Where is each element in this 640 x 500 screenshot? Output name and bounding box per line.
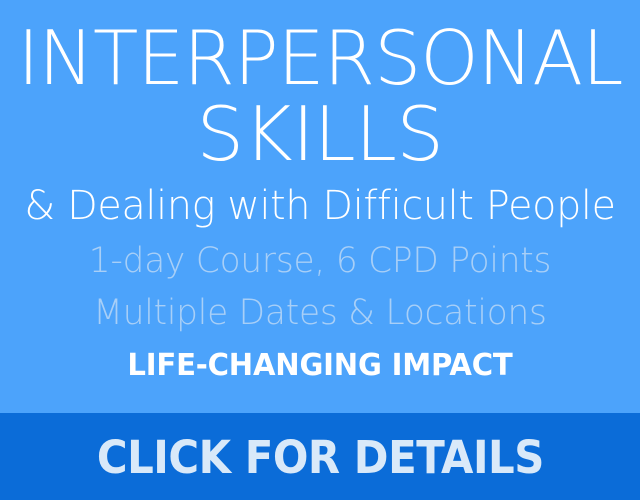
detail-line-course-info: 1-day Course, 6 CPD Points — [6, 240, 633, 282]
subheadline: & Dealing with Difficult People — [3, 183, 637, 229]
detail-line-dates-locations: Multiple Dates & Locations — [6, 292, 633, 334]
impact-tagline: LIFE-CHANGING IMPACT — [10, 348, 631, 384]
cta-button-label: CLICK FOR DETAILS — [96, 435, 543, 480]
banner-content: INTERPERSONAL SKILLS & Dealing with Diff… — [0, 0, 640, 413]
headline-line-2: SKILLS — [0, 98, 640, 171]
headline-line-1: INTERPERSONAL — [3, 22, 637, 95]
advertisement-banner[interactable]: INTERPERSONAL SKILLS & Dealing with Diff… — [0, 0, 640, 500]
click-for-details-button[interactable]: CLICK FOR DETAILS — [0, 413, 640, 500]
